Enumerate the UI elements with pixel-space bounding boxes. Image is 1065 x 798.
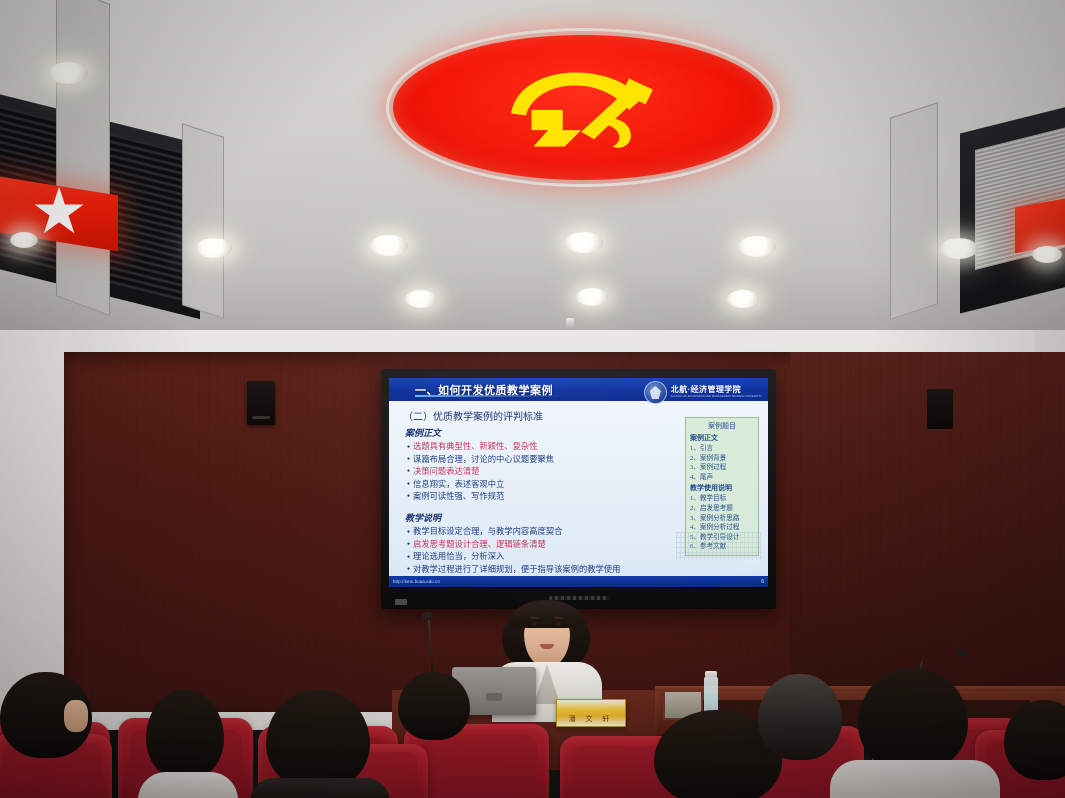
water-bottle-cap [705,671,717,677]
downlight-5 [738,236,776,257]
display-brand-logo-icon [395,599,407,605]
slide-page-number: 6 [761,579,764,585]
hammer-sickle-icon [488,62,678,154]
downlight-8 [576,288,608,306]
school-name-cn: 北航·经济管理学院 [671,386,762,394]
presenter-nameplate: 潘 文 轩 [556,699,626,727]
downlight-3 [370,235,408,256]
audience-shoulder [138,772,238,798]
ceiling-panel-left [56,0,110,316]
downlight-2 [196,238,232,258]
school-logo-text: 北航·经济管理学院 SCHOOL OF ECONOMICS AND MANAGE… [671,386,762,398]
audience-head [266,690,370,790]
left-white-wall [0,330,72,730]
party-emblem-ceiling-light [393,35,773,180]
display-screen: 一、如何开发优质教学案例 北航·经济管理学院 SCHOOL OF ECONOMI… [389,378,768,587]
presenter-fringe [510,602,584,628]
downlight-10 [1032,246,1062,263]
list-item: 2、案例背景 [690,454,754,464]
presenter-name-text: 潘 文 轩 [557,714,625,724]
bullet-text: 信息翔实，表述客观中立 [413,480,504,489]
audience-hand [64,700,88,732]
list-item: 3、案例过程 [690,463,754,473]
audience-head [758,674,842,760]
audience-head [398,672,470,740]
list-item: 3、案例分析思路 [690,514,754,524]
bullet-text: 选题具有典型性、新颖性、复杂性 [413,442,537,451]
list-item: 1、引言 [690,444,754,454]
side-box-title: 案例题目 [690,421,754,431]
audience-head [858,668,968,772]
slide-header: 一、如何开发优质教学案例 北航·经济管理学院 SCHOOL OF ECONOMI… [389,378,768,401]
presenter-eyebrow-right [554,617,563,619]
bullet-text: 案例可读性强、写作规范 [413,492,504,501]
downlight-11 [10,232,38,248]
bullet-text: 对教学过程进行了详细规划，便于指导该案例的教学使用 [413,565,620,574]
presenter-eye-right [555,622,562,625]
bullet-text: 启发思考题设计合理、逻辑链条清楚 [413,540,546,549]
building-watermark [676,532,762,560]
presenter-eyebrow-left [530,617,539,619]
downlight-7 [405,290,437,308]
presentation-display[interactable]: 一、如何开发优质教学案例 北航·经济管理学院 SCHOOL OF ECONOMI… [381,369,776,609]
presenter-eye-left [531,622,538,625]
wall-speaker-right [927,389,953,429]
bullet-text: 谋篇布局合理，讨论的中心议题要聚焦 [413,455,554,464]
school-name-en: SCHOOL OF ECONOMICS AND MANAGEMENT BEIHA… [671,396,762,399]
ceiling: ★ [0,0,1065,340]
bullet-text: 教学目标设定合理，与教学内容高度契合 [413,527,562,536]
downlight-4 [565,232,603,253]
ceiling-panel-right [890,102,938,320]
bullet-item: 对教学过程进行了详细规划，便于指导该案例的教学使用 [407,564,760,576]
downlight-6 [940,238,978,259]
side-box-list1: 1、引言 2、案例背景 3、案例过程 4、尾声 [690,444,754,482]
star-light-panel-right [1015,197,1065,254]
audience-shoulder [250,778,390,798]
downlight-1 [48,62,88,84]
lecture-hall-photo: ★ [0,0,1065,798]
title-underline [415,395,565,397]
side-box-sub2: 教学使用说明 [690,483,754,493]
audience-shoulder [830,760,1000,798]
side-box-sub1: 案例正文 [690,433,754,443]
list-item: 2、启发思考题 [690,504,754,514]
presentation-slide: 一、如何开发优质教学案例 北航·经济管理学院 SCHOOL OF ECONOMI… [389,378,768,587]
slide-footer-url: http://sem.buaa.edu.cn [393,579,440,584]
bullet-text: 理论选用恰当，分析深入 [413,552,504,561]
audience-head [146,690,224,780]
list-item: 4、案例分析过程 [690,523,754,533]
wall-speaker-left [247,381,275,425]
ceiling-panel-left-2 [182,123,224,319]
slide-footer: http://sem.buaa.edu.cn 6 [389,576,768,587]
downlight-9 [727,290,759,308]
list-item: 1、教学目标 [690,494,754,504]
bullet-text: 决策问题表达清楚 [413,467,479,476]
list-item: 4、尾声 [690,473,754,483]
slide-body: （二）优质教学案例的评判标准 案例正文 选题具有典型性、新颖性、复杂性 谋篇布局… [389,401,768,576]
